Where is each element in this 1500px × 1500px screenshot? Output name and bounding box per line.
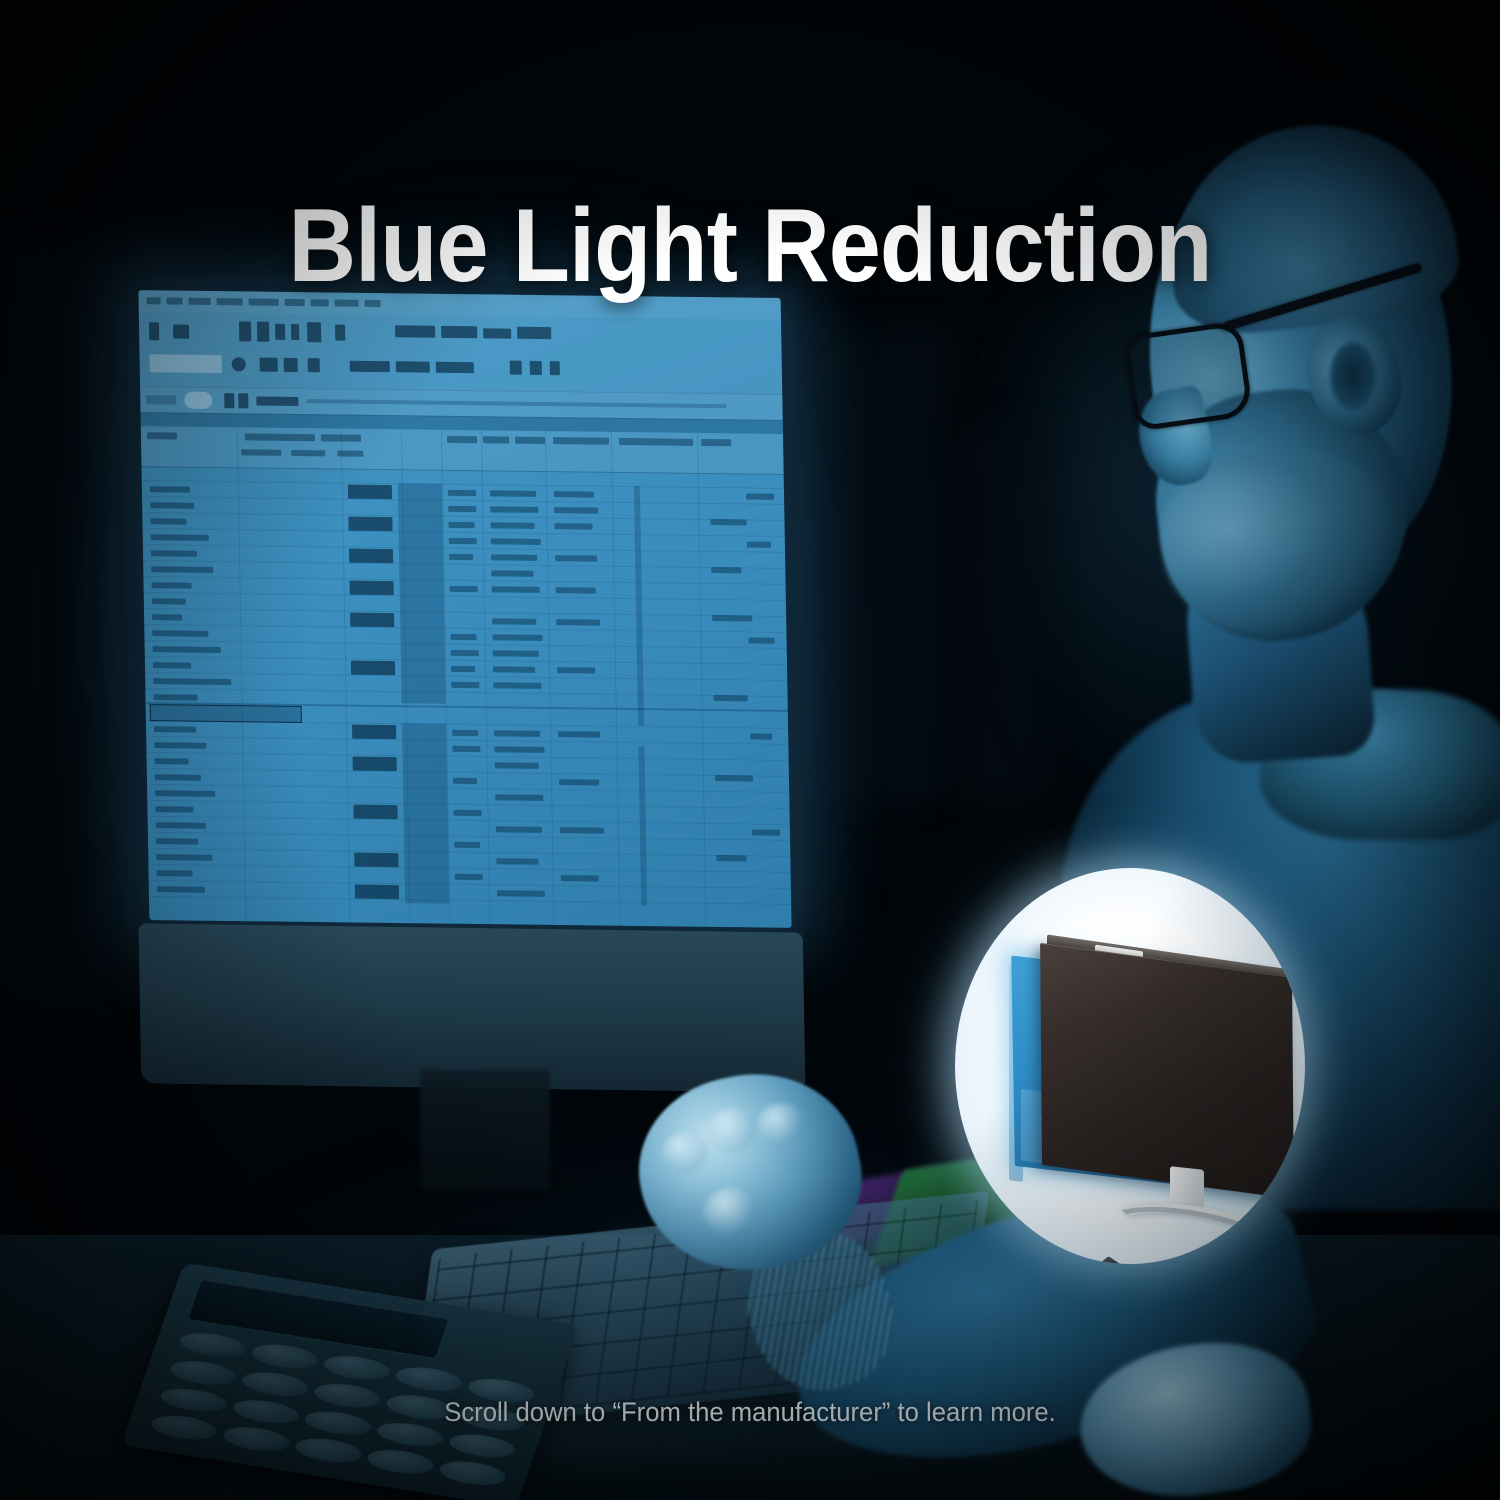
- monitor-screen: [138, 290, 791, 928]
- background-shelf-right: [960, 420, 1050, 800]
- spreadsheet-ribbon: [139, 312, 783, 395]
- promo-image: Blue Light Reduction Scroll down to “Fro…: [0, 0, 1500, 1500]
- page-title: Blue Light Reduction: [75, 194, 1425, 298]
- desktop-monitor: [120, 280, 820, 1040]
- monitor-stand-neck: [420, 1070, 550, 1190]
- caption-text: Scroll down to “From the manufacturer” t…: [38, 1396, 1463, 1428]
- product-inset: [955, 868, 1305, 1264]
- privacy-filter-panel: [1040, 943, 1294, 1199]
- eyeglass-lens: [1123, 320, 1253, 431]
- monitor-base-panel: [138, 923, 805, 1092]
- inset-circle-background: [955, 868, 1305, 1264]
- spreadsheet-selected-row: [150, 704, 302, 723]
- background-shelf-left: [820, 330, 950, 800]
